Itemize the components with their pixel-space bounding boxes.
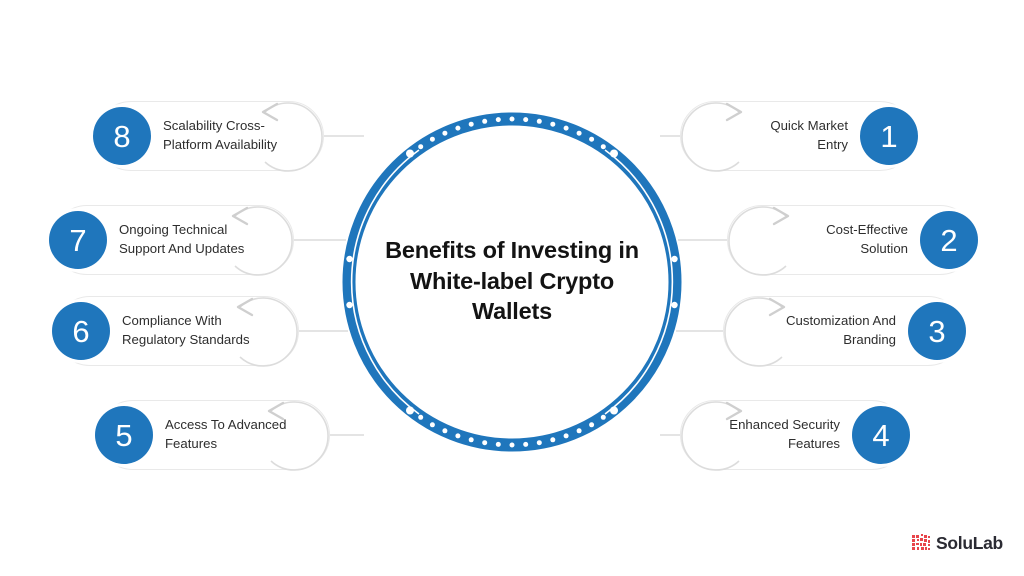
benefit-card-4[interactable]: Enhanced Security Features 4	[680, 400, 907, 470]
label-line: Customization And	[786, 312, 896, 331]
label-line: Regulatory Standards	[122, 331, 250, 350]
benefit-number-3: 3	[908, 302, 966, 360]
infographic-canvas: Benefits of Investing in White-label Cry…	[0, 0, 1024, 576]
benefit-card-6-label: Compliance With Regulatory Standards	[110, 312, 262, 349]
page-title: Benefits of Investing in White-label Cry…	[352, 235, 672, 327]
benefit-number-7: 7	[49, 211, 107, 269]
benefit-number-2: 2	[920, 211, 978, 269]
benefit-number-4: 4	[852, 406, 910, 464]
benefit-card-5[interactable]: 5 Access To Advanced Features	[98, 400, 330, 470]
benefit-card-7-label: Ongoing Technical Support And Updates	[107, 221, 256, 258]
benefit-card-3[interactable]: Customization And Branding 3	[723, 296, 963, 366]
benefit-number-5: 5	[95, 406, 153, 464]
label-line: Scalability Cross-	[163, 117, 277, 136]
label-line: Ongoing Technical	[119, 221, 244, 240]
brand-logo-text: SoluLab	[936, 533, 1003, 554]
solulab-mark-icon	[912, 534, 931, 553]
benefit-number-1: 1	[860, 107, 918, 165]
benefit-card-1[interactable]: Quick Market Entry 1	[680, 101, 915, 171]
benefit-number-8: 8	[93, 107, 151, 165]
label-line: Compliance With	[122, 312, 250, 331]
label-line: Enhanced Security	[729, 416, 840, 435]
arc-arrow-icon-2	[712, 194, 808, 288]
benefit-card-2-label: Cost-Effective Solution	[814, 221, 920, 258]
label-line: Platform Availability	[163, 136, 277, 155]
benefit-card-4-label: Enhanced Security Features	[717, 416, 852, 453]
label-line: Features	[165, 435, 286, 454]
label-line: Branding	[786, 331, 896, 350]
benefit-card-8[interactable]: 8 Scalability Cross- Platform Availabili…	[96, 101, 324, 171]
label-line: Features	[729, 435, 840, 454]
page-title-line-3: Wallets	[352, 296, 672, 327]
benefit-card-6[interactable]: 6 Compliance With Regulatory Standards	[55, 296, 299, 366]
page-title-line-1: Benefits of Investing in	[352, 235, 672, 266]
label-line: Support And Updates	[119, 240, 244, 259]
page-title-line-2: White-label Crypto	[352, 266, 672, 297]
label-line: Cost-Effective	[826, 221, 908, 240]
brand-logo: SoluLab	[912, 533, 1003, 554]
label-line: Quick Market	[770, 117, 848, 136]
benefit-card-2[interactable]: Cost-Effective Solution 2	[727, 205, 975, 275]
benefit-card-7[interactable]: 7 Ongoing Technical Support And Updates	[52, 205, 294, 275]
benefit-card-5-label: Access To Advanced Features	[153, 416, 298, 453]
benefit-card-3-label: Customization And Branding	[774, 312, 908, 349]
benefit-card-1-label: Quick Market Entry	[758, 117, 860, 154]
label-line: Entry	[770, 136, 848, 155]
label-line: Access To Advanced	[165, 416, 286, 435]
benefit-number-6: 6	[52, 302, 110, 360]
benefit-card-8-label: Scalability Cross- Platform Availability	[151, 117, 289, 154]
label-line: Solution	[826, 240, 908, 259]
